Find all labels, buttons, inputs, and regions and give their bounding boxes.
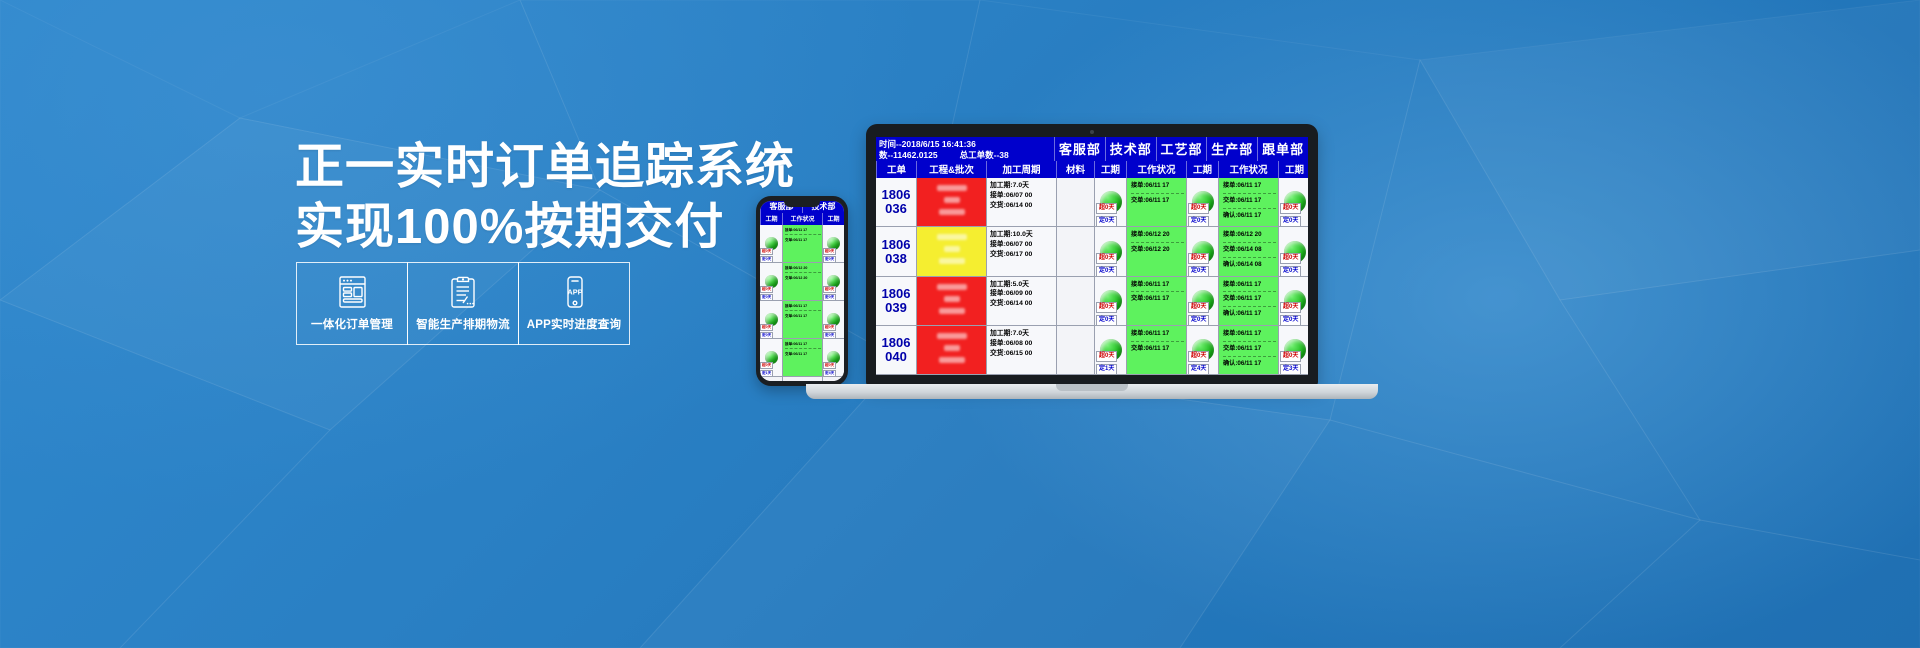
period-cell-0: 超0天定0天: [1095, 178, 1126, 227]
over-days-badge: 超0天: [1096, 302, 1117, 313]
project-batch-cell: [917, 277, 986, 326]
over-days-badge: 超0天: [823, 362, 836, 369]
status-line: 接单:06/11 17: [1131, 181, 1184, 194]
column-header-1: 工程&批次: [916, 161, 986, 178]
status-line: 交单:06/11 17: [1131, 196, 1184, 208]
work-status-cell-1: 接单:06/11 17交单:06/11 17确认:06/11 17: [1219, 326, 1278, 375]
work-status-cell-0: 接单:06/11 17交单:06/11 17: [1127, 277, 1186, 326]
over-days-badge: 超0天: [760, 362, 773, 369]
cycle-line: 接单:06/08 00: [990, 339, 1054, 349]
phone-work-status-cell: 接单:06/11 17交单:06/11 17: [783, 225, 822, 263]
status-line: 交单:06/12 20: [785, 275, 821, 282]
laptop-mockup: 时间--2018/6/15 16:41:36数--11462.0125总工单数-…: [866, 124, 1318, 414]
work-order-number: 1806: [882, 188, 911, 202]
work-status-cell-0: 接单:06/12 20交单:06/12 20: [1127, 227, 1186, 276]
work-order-number: 039: [885, 301, 907, 315]
work-order-number: 040: [885, 350, 907, 364]
period-cell-0: 超0天定1天: [1095, 326, 1126, 375]
period-cell-1: 超0天定0天: [1187, 277, 1218, 326]
phone-period-cell: 超0天定0天: [760, 225, 782, 263]
column-header-2: 加工周期: [986, 161, 1056, 178]
processing-cycle-cell: 加工期:5.0天接单:06/09 00交货:06/14 00: [987, 277, 1056, 326]
over-days-badge: 超0天: [1188, 302, 1209, 313]
document-layout-icon: [337, 275, 368, 309]
over-days-badge: 超0天: [760, 248, 773, 255]
over-days-badge: 超0天: [823, 286, 836, 293]
phone-period-cell: 超0天定4天: [823, 339, 844, 377]
on-time-days-badge: 定4天: [823, 370, 836, 377]
phone-mockup: 客服部技术部工期工作状况工期工作状况超0天定0天超0天定0天超0天定0天超0天定…: [756, 196, 848, 386]
laptop-screen[interactable]: 时间--2018/6/15 16:41:36数--11462.0125总工单数-…: [876, 137, 1308, 375]
feature-list: 一体化订单管理 智能生产排期物流: [296, 262, 630, 345]
laptop-trackpad-notch: [1056, 384, 1128, 391]
on-time-days-badge: 定3天: [1280, 364, 1301, 375]
status-line: 交单:06/12 20: [1131, 245, 1184, 257]
status-line: 交单:06/11 17: [1131, 294, 1184, 306]
on-time-days-badge: 定0天: [1280, 266, 1301, 277]
phone-column-header-0: 工期: [760, 213, 782, 225]
work-order-number: 038: [885, 252, 907, 266]
period-cell-1: 超0天定0天: [1187, 178, 1218, 227]
on-time-days-badge: 定0天: [1280, 315, 1301, 326]
status-line: 接单:06/11 17: [1223, 280, 1276, 293]
cycle-line: 加工期:5.0天: [990, 280, 1054, 290]
status-line: 接单:06/11 17: [1223, 329, 1276, 342]
column-header-4: 工期: [1094, 161, 1126, 178]
dashboard-total-orders: 总工单数--38: [960, 150, 1009, 161]
work-status-cell-1: 接单:06/11 17交单:06/11 17确认:06/11 17: [1219, 178, 1278, 227]
project-batch-cell: [917, 326, 986, 375]
over-days-badge: 超0天: [1280, 351, 1301, 362]
on-time-days-badge: 定4天: [1188, 364, 1209, 375]
over-days-badge: 超0天: [1188, 253, 1209, 264]
status-line: 交单:06/11 17: [1131, 344, 1184, 356]
work-status-cell-0: 接单:06/11 17交单:06/11 17: [1127, 326, 1186, 375]
status-line: 交单:06/11 17: [785, 237, 821, 244]
status-line: 确认:06/11 17: [1223, 211, 1276, 223]
project-batch-cell: [917, 227, 986, 276]
period-cell-2: 超0天定0天: [1279, 227, 1308, 276]
cycle-line: 接单:06/07 00: [990, 191, 1054, 201]
material-cell: [1057, 227, 1094, 276]
over-days-badge: 超0天: [1096, 351, 1117, 362]
svg-text:APP: APP: [567, 288, 582, 297]
period-cell-2: 超0天定0天: [1279, 277, 1308, 326]
material-cell: [1057, 178, 1094, 227]
phone-work-status-cell: 接单:06/11 17交单:06/11 17: [783, 339, 822, 377]
status-line: 确认:06/11 17: [1223, 359, 1276, 371]
processing-cycle-cell: 加工期:7.0天接单:06/07 00交货:06/14 00: [987, 178, 1056, 227]
work-order-number: 1806: [882, 287, 911, 301]
period-cell-2: 超0天定3天: [1279, 326, 1308, 375]
status-line: 交单:06/11 17: [785, 351, 821, 358]
phone-period-cell: 超0天定0天: [760, 263, 782, 301]
dept-header-4: 跟单部: [1257, 137, 1308, 161]
cycle-line: 加工期:7.0天: [990, 329, 1054, 339]
work-order-number: 1806: [882, 238, 911, 252]
material-cell: [1057, 277, 1094, 326]
column-header-7: 工作状况: [1218, 161, 1278, 178]
table-row: 1806039: [876, 277, 916, 326]
on-time-days-badge: 定0天: [1188, 315, 1209, 326]
work-status-cell-1: 接单:06/12 20交单:06/14 08确认:06/14 08: [1219, 227, 1278, 276]
on-time-days-badge: 定0天: [823, 256, 836, 263]
column-header-5: 工作状况: [1126, 161, 1186, 178]
status-line: 接单:06/11 17: [1131, 280, 1184, 293]
over-days-badge: 超0天: [1280, 203, 1301, 214]
status-line: 接单:06/11 17: [785, 303, 821, 311]
on-time-days-badge: 定0天: [823, 332, 836, 339]
processing-cycle-cell: 加工期:10.0天接单:06/07 00交货:06/17 00: [987, 227, 1056, 276]
on-time-days-badge: 定0天: [1280, 216, 1301, 227]
phone-notch: [784, 201, 820, 207]
order-tracking-dashboard: 时间--2018/6/15 16:41:36数--11462.0125总工单数-…: [876, 137, 1308, 375]
column-header-6: 工期: [1186, 161, 1218, 178]
project-batch-cell: [917, 178, 986, 227]
phone-period-cell: 超0天定0天: [823, 225, 844, 263]
on-time-days-badge: 定1天: [1096, 364, 1117, 375]
cycle-line: 接单:06/07 00: [990, 240, 1054, 250]
on-time-days-badge: 定0天: [1096, 216, 1117, 227]
feature-card-app-progress-query[interactable]: APP APP实时进度查询: [518, 262, 630, 345]
dashboard-timestamp: 时间--2018/6/15 16:41:36: [879, 139, 1051, 150]
phone-column-header-1: 工作状况: [782, 213, 822, 225]
on-time-days-badge: 定1天: [760, 370, 773, 377]
status-line: 交单:06/11 17: [1223, 344, 1276, 357]
phone-period-cell: 超0天定0天: [823, 263, 844, 301]
column-header-8: 工期: [1278, 161, 1308, 178]
on-time-days-badge: 定0天: [1096, 266, 1117, 277]
over-days-badge: 超0天: [823, 324, 836, 331]
phone-work-status-cell: 接单:06/11 17交单:06/11 17: [783, 301, 822, 339]
feature-label: APP实时进度查询: [527, 316, 621, 332]
feature-label: 智能生产排期物流: [416, 316, 510, 332]
dept-header-1: 技术部: [1105, 137, 1156, 161]
column-header-3: 材料: [1056, 161, 1094, 178]
over-days-badge: 超0天: [1188, 351, 1209, 362]
column-header-0: 工单: [876, 161, 916, 178]
on-time-days-badge: 定0天: [760, 332, 773, 339]
period-cell-0: 超0天定0天: [1095, 277, 1126, 326]
cycle-line: 交货:06/15 00: [990, 349, 1054, 359]
feature-card-order-management[interactable]: 一体化订单管理: [296, 262, 408, 345]
over-days-badge: 超0天: [760, 324, 773, 331]
phone-screen[interactable]: 客服部技术部工期工作状况工期工作状况超0天定0天超0天定0天超0天定0天超0天定…: [760, 201, 844, 381]
work-status-cell-0: 接单:06/11 17交单:06/11 17: [1127, 178, 1186, 227]
status-line: 确认:06/14 08: [1223, 260, 1276, 272]
dept-header-2: 工艺部: [1156, 137, 1207, 161]
table-row: 1806040: [876, 326, 916, 375]
table-row: 1806038: [876, 227, 916, 276]
laptop-lid: 时间--2018/6/15 16:41:36数--11462.0125总工单数-…: [866, 124, 1318, 386]
status-line: 接单:06/12 20: [785, 265, 821, 273]
period-cell-1: 超0天定4天: [1187, 326, 1218, 375]
status-line: 交单:06/14 08: [1223, 245, 1276, 258]
work-order-number: 036: [885, 202, 907, 216]
period-cell-2: 超0天定0天: [1279, 178, 1308, 227]
status-line: 接单:06/12 20: [1131, 230, 1184, 243]
table-row: 1806036: [876, 178, 916, 227]
feature-label: 一体化订单管理: [311, 316, 393, 332]
cycle-line: 交货:06/14 00: [990, 299, 1054, 309]
cycle-line: 交货:06/17 00: [990, 250, 1054, 260]
dept-header-0: 客服部: [1054, 137, 1105, 161]
on-time-days-badge: 定0天: [1188, 216, 1209, 227]
feature-card-production-scheduling[interactable]: 智能生产排期物流: [407, 262, 519, 345]
on-time-days-badge: 定0天: [760, 294, 773, 301]
dept-header-3: 生产部: [1206, 137, 1257, 161]
clipboard-checklist-icon: [448, 275, 479, 309]
on-time-days-badge: 定0天: [823, 294, 836, 301]
status-line: 接单:06/11 17: [1131, 329, 1184, 342]
status-line: 确认:06/11 17: [1223, 309, 1276, 321]
work-status-cell-1: 接单:06/11 17交单:06/11 17确认:06/11 17: [1219, 277, 1278, 326]
over-days-badge: 超0天: [760, 286, 773, 293]
period-cell-0: 超0天定0天: [1095, 227, 1126, 276]
on-time-days-badge: 定0天: [760, 256, 773, 263]
phone-period-cell: 超0天定1天: [760, 339, 782, 377]
over-days-badge: 超0天: [1188, 203, 1209, 214]
processing-cycle-cell: 加工期:7.0天接单:06/08 00交货:06/15 00: [987, 326, 1056, 375]
cycle-line: 接单:06/09 00: [990, 289, 1054, 299]
work-order-number: 1806: [882, 336, 911, 350]
cycle-line: 加工期:7.0天: [990, 181, 1054, 191]
dashboard-clock: 时间--2018/6/15 16:41:36数--11462.0125总工单数-…: [876, 137, 1054, 161]
on-time-days-badge: 定0天: [1188, 266, 1209, 277]
status-line: 交单:06/11 17: [1223, 294, 1276, 307]
over-days-badge: 超0天: [1096, 253, 1117, 264]
status-line: 接单:06/12 20: [1223, 230, 1276, 243]
phone-column-header-2: 工期: [822, 213, 844, 225]
phone-work-status-cell: 接单:06/12 20交单:06/12 20: [783, 263, 822, 301]
over-days-badge: 超0天: [1096, 203, 1117, 214]
status-line: 接单:06/11 17: [785, 227, 821, 235]
phone-period-cell: 超0天定0天: [760, 301, 782, 339]
material-cell: [1057, 326, 1094, 375]
status-line: 交单:06/11 17: [785, 313, 821, 320]
status-line: 接单:06/11 17: [785, 341, 821, 349]
status-line: 交单:06/11 17: [1223, 196, 1276, 209]
over-days-badge: 超0天: [1280, 253, 1301, 264]
status-line: 接单:06/11 17: [1223, 181, 1276, 194]
cycle-line: 加工期:10.0天: [990, 230, 1054, 240]
period-cell-1: 超0天定0天: [1187, 227, 1218, 276]
mobile-app-icon: APP: [559, 275, 590, 309]
phone-period-cell: 超0天定0天: [823, 301, 844, 339]
phone-body: 客服部技术部工期工作状况工期工作状况超0天定0天超0天定0天超0天定0天超0天定…: [756, 196, 848, 386]
webcam-icon: [1090, 130, 1094, 134]
phone-dashboard: 客服部技术部工期工作状况工期工作状况超0天定0天超0天定0天超0天定0天超0天定…: [760, 201, 844, 381]
over-days-badge: 超0天: [1280, 302, 1301, 313]
dashboard-counter: 数--11462.0125: [879, 150, 938, 161]
over-days-badge: 超0天: [823, 248, 836, 255]
on-time-days-badge: 定0天: [1096, 315, 1117, 326]
cycle-line: 交货:06/14 00: [990, 201, 1054, 211]
